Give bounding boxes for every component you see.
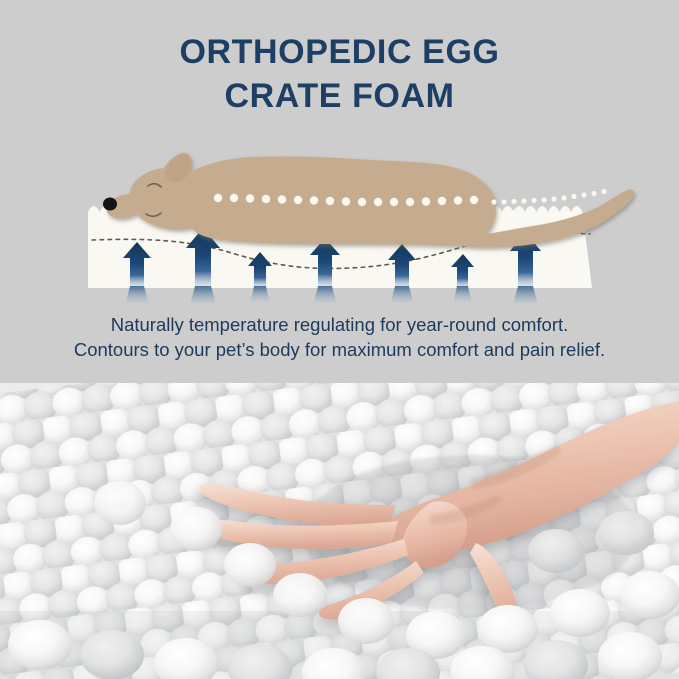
tagline-line-1: Naturally temperature regulating for yea… bbox=[0, 312, 679, 337]
tail-dots bbox=[491, 189, 606, 205]
headline-line-2: CRATE FOAM bbox=[0, 74, 679, 118]
dog-on-foam-illustration bbox=[0, 128, 679, 303]
dog-nose-icon bbox=[103, 198, 117, 211]
hand-pressing-foam-photo bbox=[0, 383, 679, 679]
feature-taglines: Naturally temperature regulating for yea… bbox=[0, 312, 679, 362]
product-infographic-image: ORTHOPEDIC EGG CRATE FOAM bbox=[0, 0, 679, 679]
page-title: ORTHOPEDIC EGG CRATE FOAM bbox=[0, 30, 679, 118]
tagline-line-2: Contours to your pet’s body for maximum … bbox=[0, 337, 679, 362]
infographic-panel: ORTHOPEDIC EGG CRATE FOAM bbox=[0, 0, 679, 383]
dog-body bbox=[129, 153, 634, 248]
headline-line-1: ORTHOPEDIC EGG bbox=[0, 30, 679, 74]
foam-photo-panel bbox=[0, 383, 679, 679]
